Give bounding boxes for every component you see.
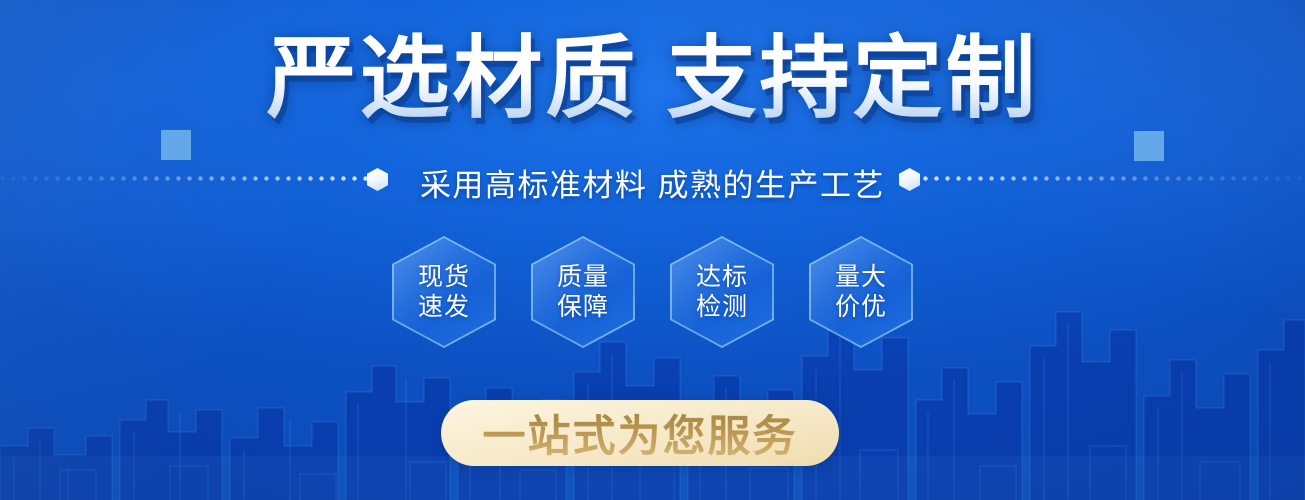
feature-badge-volume-price[interactable]: 量大 价优 [809,236,913,348]
feature-badge-quality[interactable]: 质量 保障 [531,236,635,348]
one-stop-service-label: 一站式为您服务 [483,402,798,464]
feature-badge-label: 质量 保障 [557,262,609,323]
feature-badge-label: 量大 价优 [835,262,887,323]
decorative-square-left [161,130,191,160]
feature-badge-label: 现货 速发 [418,262,470,323]
feature-badge-row: 现货 速发 质量 保障 达标 检测 量大 价优 [0,236,1305,348]
banner-title: 严选材质 支持定制 [0,31,1305,128]
decorative-square-right [1134,131,1164,161]
one-stop-service-button[interactable]: 一站式为您服务 [441,400,839,466]
feature-badge-stock[interactable]: 现货 速发 [392,236,496,348]
promo-banner: 严选材质 支持定制 采用高标准材料 成熟的生产工艺 现货 速发 质量 保障 达标… [0,0,1305,500]
banner-subtitle: 采用高标准材料 成熟的生产工艺 [0,160,1305,205]
feature-badge-testing[interactable]: 达标 检测 [670,236,774,348]
feature-badge-label: 达标 检测 [696,262,748,323]
